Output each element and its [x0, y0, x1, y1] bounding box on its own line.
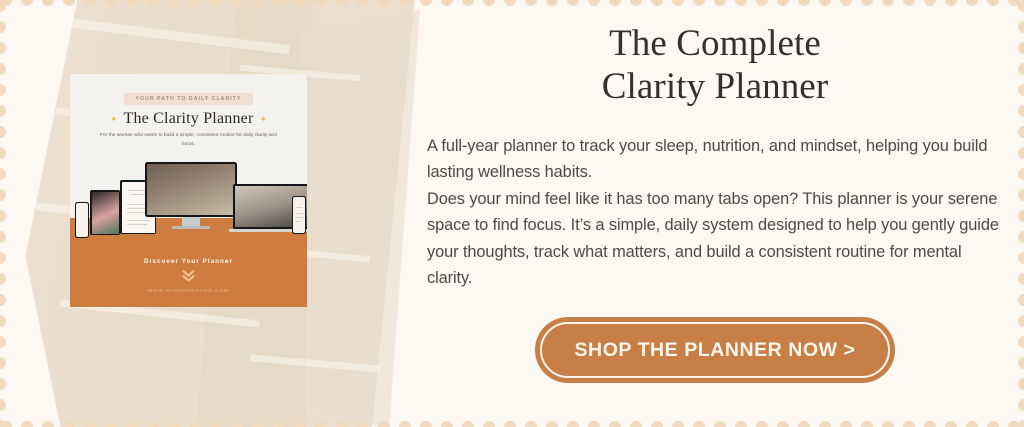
device-mockup-collage — [70, 162, 307, 260]
content-column: The Complete Clarity Planner A full-year… — [427, 22, 1003, 383]
tablet-mockup-photo — [90, 190, 120, 235]
card-title: The Clarity Planner — [124, 110, 254, 128]
monitor-base — [172, 226, 210, 229]
shop-the-planner-button[interactable]: SHOP THE PLANNER NOW > — [535, 317, 895, 383]
headline-line-1: The Complete — [427, 22, 1003, 65]
tablet-screen-photo — [92, 192, 119, 234]
promo-banner: YOUR PATH TO DAILY CLARITY ✦ The Clarity… — [0, 0, 1024, 427]
sparkle-icon-right: ✦ — [260, 115, 268, 124]
sparkle-icon-left: ✦ — [110, 115, 118, 124]
phone-screen-left — [76, 203, 88, 237]
card-subtitle: For the woman who wants to build a simpl… — [96, 132, 281, 149]
product-image-card[interactable]: YOUR PATH TO DAILY CLARITY ✦ The Clarity… — [70, 74, 307, 307]
card-website-url: WWW.MINDOVERAGE.COM — [70, 288, 307, 293]
shop-the-planner-label: SHOP THE PLANNER NOW > — [575, 339, 856, 362]
monitor-mockup — [145, 162, 237, 217]
description-paragraph-1: A full-year planner to track your sleep,… — [427, 133, 1003, 186]
phone-mockup-right — [292, 196, 306, 234]
page-title: The Complete Clarity Planner — [427, 22, 1003, 109]
phone-mockup-left — [75, 202, 89, 238]
description-block: A full-year planner to track your sleep,… — [427, 133, 1003, 292]
cta-container: SHOP THE PLANNER NOW > — [427, 317, 1003, 383]
double-chevron-down-icon — [70, 270, 307, 285]
card-eyebrow-pill: YOUR PATH TO DAILY CLARITY — [124, 93, 254, 105]
monitor-screen — [147, 164, 235, 215]
phone-screen-right — [293, 197, 305, 233]
card-title-row: ✦ The Clarity Planner ✦ — [70, 110, 307, 128]
card-cta-text: Discover Your Planner — [70, 258, 307, 265]
headline-line-2: Clarity Planner — [427, 65, 1003, 108]
description-paragraph-2: Does your mind feel like it has too many… — [427, 186, 1003, 292]
